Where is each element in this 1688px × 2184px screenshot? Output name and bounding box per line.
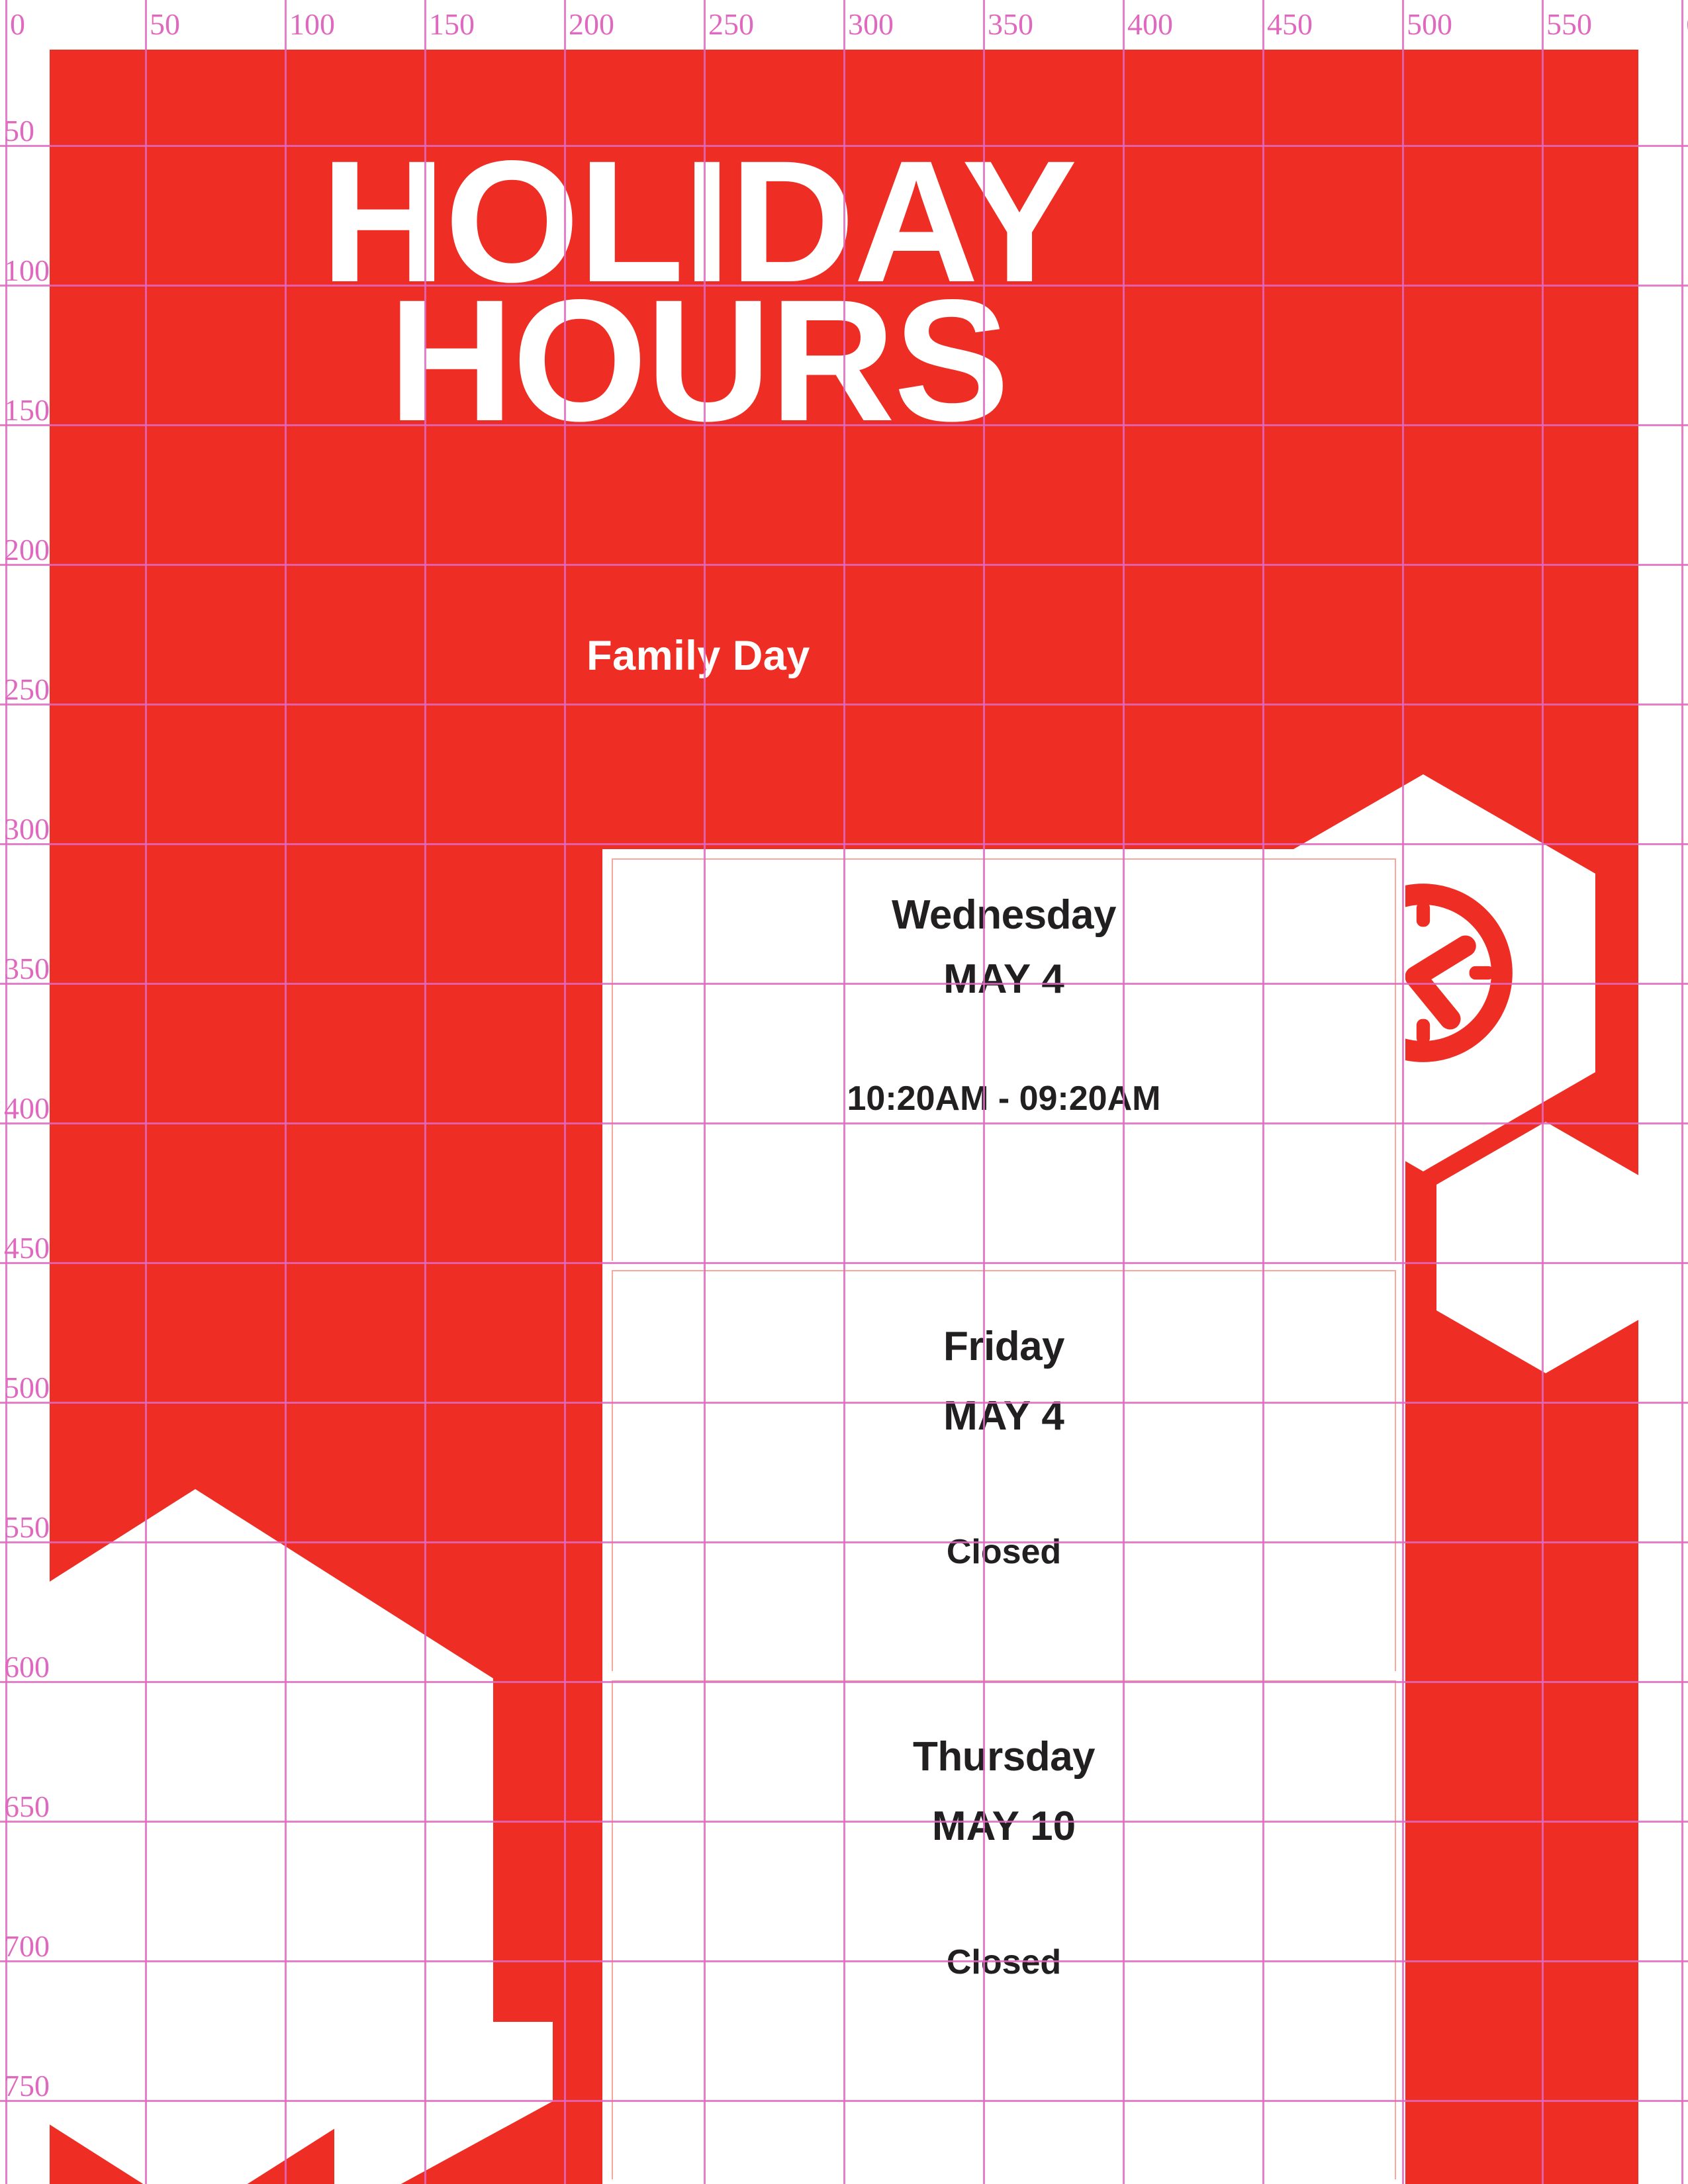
hours-card-inner: Wednesday MAY 4 10:20AM - 09:20AM — [612, 858, 1396, 1311]
ruler-tick-label-y: 600 — [4, 1652, 50, 1682]
hours-card-hours: Closed — [613, 1532, 1395, 1572]
ruler-tick-label-y: 200 — [4, 535, 50, 565]
ruler-tick-label-x: 450 — [1267, 9, 1313, 40]
ruler-tick-label-x: 0 — [10, 9, 25, 40]
ruler-tick-label-y: 100 — [4, 255, 50, 286]
poster-canvas: HOLIDAY HOURS Family Day Wednesday MAY 4… — [0, 0, 1688, 2184]
hours-card-date: MAY 10 — [613, 1803, 1395, 1850]
ruler-tick-label-x: 250 — [708, 9, 754, 40]
ruler-tick-label-y: 400 — [4, 1093, 50, 1124]
hours-card-date: MAY 4 — [613, 956, 1395, 1003]
hexagon-decor-large-tail-icon — [334, 2022, 553, 2184]
hours-card-inner: Thursday MAY 10 Closed — [612, 1680, 1396, 2179]
poster-background: HOLIDAY HOURS Family Day Wednesday MAY 4… — [50, 50, 1638, 2184]
ruler-tick-label-y: 700 — [4, 1931, 50, 1962]
ruler-tick-label-x: 550 — [1546, 9, 1592, 40]
ruler-tick-label-x: 400 — [1127, 9, 1173, 40]
hours-card: Thursday MAY 10 Closed — [602, 1671, 1405, 2184]
ruler-gridline-vertical — [1681, 0, 1683, 2184]
hours-card-hours: 10:20AM - 09:20AM — [613, 1079, 1395, 1118]
ruler-tick-label-x: 50 — [150, 9, 180, 40]
ruler-gridline-vertical — [5, 0, 7, 2184]
ruler-tick-label-x: 300 — [848, 9, 894, 40]
hours-card-date: MAY 4 — [613, 1392, 1395, 1439]
ruler-tick-label-y: 150 — [4, 395, 50, 426]
ruler-tick-label-x: 200 — [569, 9, 614, 40]
hours-card-hours: Closed — [613, 1942, 1395, 1982]
hours-card-day: Wednesday — [613, 891, 1395, 938]
page-subtitle: Family Day — [50, 632, 1347, 680]
ruler-tick-label-y: 350 — [4, 954, 50, 984]
ruler-tick-label-x: 350 — [988, 9, 1033, 40]
hours-card: Wednesday MAY 4 10:20AM - 09:20AM — [602, 849, 1405, 1320]
page-title: HOLIDAY HOURS — [50, 152, 1347, 430]
ruler-tick-label-x: 150 — [429, 9, 475, 40]
ruler-tick-label-y: 750 — [4, 2071, 50, 2101]
hours-card-day: Friday — [613, 1323, 1395, 1370]
ruler-tick-label-y: 550 — [4, 1512, 50, 1543]
ruler-tick-label-y: 500 — [4, 1373, 50, 1403]
hours-card-day: Thursday — [613, 1733, 1395, 1780]
headline-line-2: HOURS — [50, 291, 1347, 430]
ruler-tick-label-x: 100 — [289, 9, 335, 40]
ruler-tick-label-y: 650 — [4, 1792, 50, 1822]
ruler-tick-label-y: 450 — [4, 1233, 50, 1263]
ruler-tick-label-y: 50 — [4, 116, 34, 146]
ruler-tick-label-y: 250 — [4, 674, 50, 705]
ruler-tick-label-x: 500 — [1407, 9, 1452, 40]
ruler-tick-label-y: 300 — [4, 814, 50, 844]
